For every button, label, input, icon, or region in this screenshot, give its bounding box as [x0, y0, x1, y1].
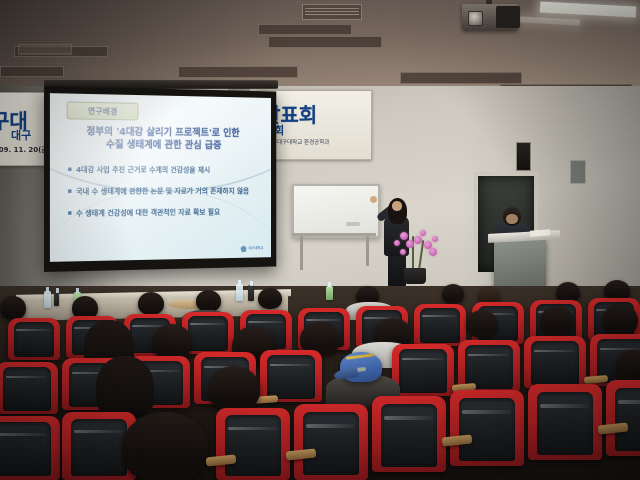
seat-highlight	[534, 350, 575, 353]
seat-highlight	[248, 321, 282, 323]
projector-lens	[468, 11, 483, 26]
audience-head	[138, 292, 164, 315]
seat-pad	[303, 412, 359, 476]
audience-head	[442, 284, 464, 304]
orchid-blossom	[420, 230, 426, 236]
audience-hair-long	[96, 356, 154, 418]
auditorium-seat	[8, 318, 60, 360]
ceiling-light-fixture	[400, 72, 522, 84]
slide-bullet-text: 4대강 사업 추진 근거로 수계의 건강성을 제시	[76, 165, 210, 174]
orchid-blossom	[394, 240, 400, 246]
seat-pad	[225, 415, 281, 475]
bullet-marker-icon: ▪	[68, 165, 73, 174]
slide-section-badge: 연구배경	[67, 101, 139, 120]
university-crest-icon	[241, 245, 247, 252]
ceiling-panel	[18, 44, 72, 54]
ceiling-projector-icon	[462, 4, 518, 30]
foreground-audience-head	[122, 412, 208, 480]
bullet-marker-icon: ▪	[68, 187, 73, 196]
seat-highlight	[384, 416, 433, 420]
slide-bullet-item: ▪ 4대강 사업 추진 근거로 수계의 건강성을 제시	[68, 165, 261, 174]
seat-highlight	[540, 404, 589, 408]
auditorium-seat	[260, 350, 322, 402]
audience-head	[152, 324, 192, 360]
wall-speaker-icon	[516, 142, 531, 171]
lectern	[494, 238, 546, 286]
slide-university-logo: 대구대학교	[241, 245, 264, 252]
auditorium-seat	[392, 344, 454, 396]
seat-pad	[3, 367, 50, 411]
seat-pad	[399, 349, 446, 393]
seat-highlight	[618, 400, 640, 404]
podium-person-face	[506, 214, 518, 224]
auditorium-seat	[0, 362, 58, 414]
slide-bullet-list: ▪ 4대강 사업 추진 근거로 수계의 건강성을 제시 ▪ 국내 수 생태계에 …	[68, 165, 261, 231]
whiteboard-tray	[292, 233, 376, 236]
orchid-pot	[404, 268, 426, 284]
presenter-hand	[370, 196, 377, 203]
slide-logo-text: 대구대학교	[249, 246, 264, 251]
orchid-blossom	[432, 236, 438, 242]
seat-pad	[0, 422, 51, 476]
wall-notice-board	[570, 160, 586, 184]
audience-head	[602, 304, 638, 336]
slide-title-line-2: 수질 생태계에 관한 관심 급증	[62, 138, 263, 152]
seat-highlight	[228, 427, 277, 431]
ceiling-vent	[302, 4, 362, 20]
seat-pad	[531, 341, 578, 385]
water-bottle	[44, 291, 51, 308]
presentation-slide: 연구배경 정부의 '4대강 살리기 프로젝트'로 인한 수질 생태계에 관한 관…	[50, 93, 271, 262]
auditorium-seat	[372, 396, 446, 472]
audience-head	[0, 296, 26, 320]
projector-body	[496, 6, 520, 28]
seat-highlight	[0, 433, 47, 436]
ceiling-light-fixture	[0, 66, 64, 77]
seat-pad	[188, 316, 228, 351]
banner-left-subline: 대구	[11, 127, 31, 143]
seat-highlight	[16, 329, 50, 331]
orchid-blossom	[400, 232, 408, 240]
audience-head	[616, 350, 640, 384]
seat-pad	[381, 404, 437, 468]
seat-highlight	[402, 358, 443, 361]
auditorium-seat	[450, 390, 524, 466]
lecture-hall-photo: 구대 대구 2009. 11. 20(금) 발표회 표회 대구대학교 환경공학과…	[0, 0, 640, 480]
audience-head	[466, 310, 498, 338]
water-bottle	[236, 284, 243, 301]
projection-screen: 연구배경 정부의 '4대강 살리기 프로젝트'로 인한 수질 생태계에 관한 관…	[44, 86, 276, 272]
ceiling-light-fixture	[178, 66, 298, 78]
cap-stripe	[346, 353, 374, 359]
seat-highlight	[190, 323, 224, 325]
ceiling-light-fixture	[258, 24, 352, 35]
banner-right-department: 대구대학교 환경공학과	[277, 138, 329, 146]
auditorium-seat	[528, 384, 602, 460]
whiteboard	[292, 184, 380, 238]
auditorium-seat	[414, 304, 466, 346]
seat-pad	[71, 419, 127, 476]
orchid-blossom	[414, 236, 422, 244]
slide-bullet-item: ▪ 국내 수 생태계에 관한한 논문 및 자료가 거의 존재하지 않음	[68, 187, 261, 196]
auditorium-seat	[216, 408, 290, 480]
slide-bullet-text: 수 생태계 건강성에 대한 객관적인 자료 확보 필요	[76, 208, 220, 218]
slide-section-badge-label: 연구배경	[88, 105, 118, 116]
seat-highlight	[74, 430, 123, 433]
seat-pad	[459, 398, 515, 462]
orchid-blossom	[406, 240, 414, 248]
seat-highlight	[468, 354, 509, 357]
bullet-marker-icon: ▪	[68, 209, 73, 218]
whiteboard-smudge	[346, 222, 360, 226]
orchid-blossom	[400, 249, 406, 255]
audience-head	[258, 288, 282, 309]
audience-head	[196, 290, 221, 312]
audience-head	[540, 306, 574, 336]
auditorium-seat	[606, 380, 640, 456]
ceiling-light-fixture	[268, 36, 382, 48]
slide-title: 정부의 '4대강 살리기 프로젝트'로 인한 수질 생태계에 관한 관심 급증	[62, 125, 263, 152]
seat-pad	[14, 322, 54, 357]
seat-highlight	[462, 410, 511, 414]
seat-highlight	[270, 364, 311, 367]
seat-pad	[537, 392, 593, 456]
orchid-blossom	[429, 248, 437, 256]
whiteboard-leg	[366, 236, 369, 266]
seat-highlight	[422, 315, 456, 317]
auditorium-seat	[0, 416, 60, 480]
seat-highlight	[306, 424, 355, 428]
auditorium-seat	[294, 404, 368, 480]
slide-bullet-item: ▪ 수 생태계 건강성에 대한 객관적인 자료 확보 필요	[68, 207, 261, 217]
seat-highlight	[306, 319, 340, 321]
auditorium-seat	[524, 336, 586, 388]
seat-pad	[615, 388, 640, 452]
slide-bullet-text: 국내 수 생태계에 관한한 논문 및 자료가 거의 존재하지 않음	[76, 187, 249, 196]
dark-bottle	[54, 292, 59, 306]
dark-bottle	[248, 285, 254, 301]
presenter-face	[392, 201, 402, 211]
green-bottle	[326, 286, 333, 300]
seat-highlight	[6, 376, 47, 379]
audience-head	[208, 366, 260, 412]
seat-pad	[420, 308, 460, 343]
blue-baseball-cap	[340, 352, 382, 382]
seat-pad	[267, 355, 314, 399]
slide-title-line-1: 정부의 '4대강 살리기 프로젝트'로 인한	[62, 125, 263, 140]
whiteboard-leg	[300, 236, 303, 270]
